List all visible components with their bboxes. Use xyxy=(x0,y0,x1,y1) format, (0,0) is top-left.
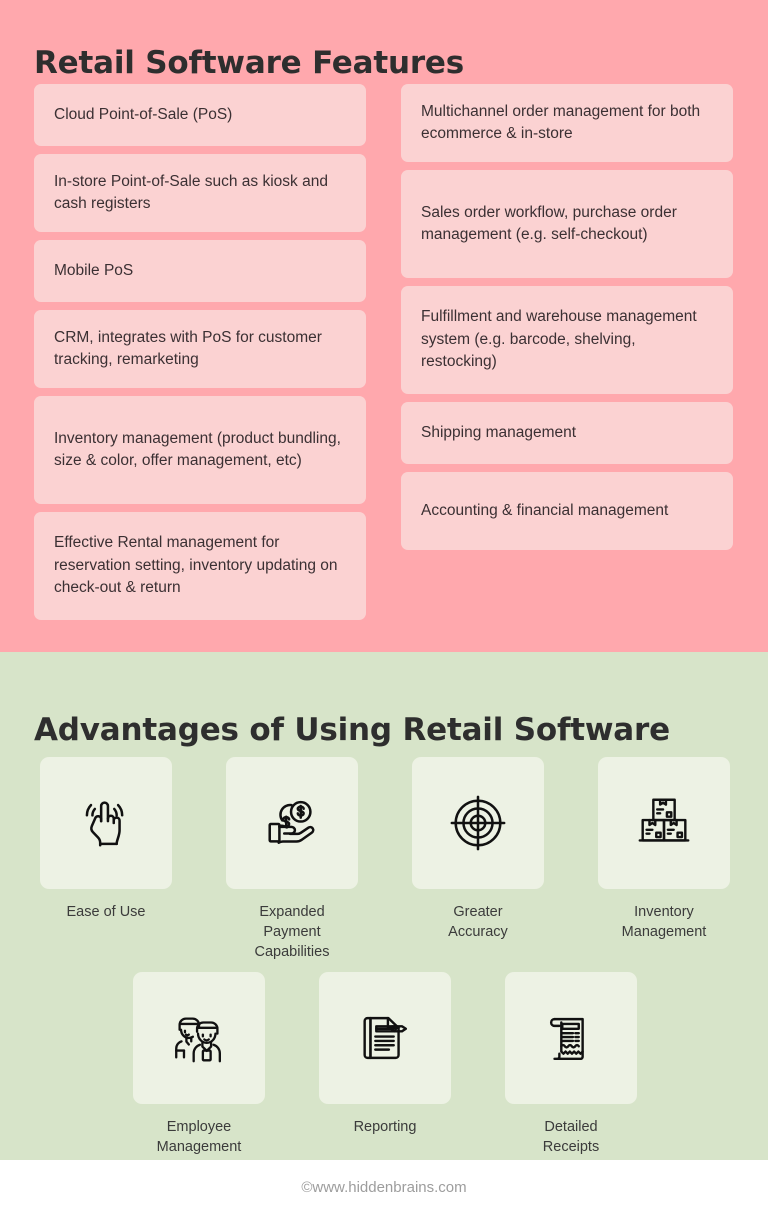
icon-tile xyxy=(133,972,265,1104)
icon-tile xyxy=(226,757,358,889)
advantages-row-2: Employee Management xyxy=(133,972,637,1157)
features-section-title: Retail Software Features xyxy=(34,45,464,81)
footer: ©www.hiddenbrains.com xyxy=(0,1160,768,1215)
feature-card: Shipping management xyxy=(401,402,733,464)
features-right-column: Multichannel order management for both e… xyxy=(401,84,733,620)
hand-money-icon xyxy=(261,792,323,854)
features-card-columns: Cloud Point-of-Sale (PoS) In-store Point… xyxy=(34,84,734,620)
tap-hand-icon xyxy=(75,792,137,854)
feature-card-text: Accounting & financial management xyxy=(421,500,668,522)
advantage-item-expanded-payment-capabilities: Expanded Payment Capabilities xyxy=(226,757,358,962)
icon-tile xyxy=(40,757,172,889)
feature-card-text: Sales order workflow, purchase order man… xyxy=(421,202,713,247)
feature-card-text: Mobile PoS xyxy=(54,260,133,282)
advantage-label: Reporting xyxy=(354,1117,417,1137)
feature-card-text: Cloud Point-of-Sale (PoS) xyxy=(54,104,232,126)
two-employees-icon xyxy=(168,1007,230,1069)
advantage-item-detailed-receipts: Detailed Receipts xyxy=(505,972,637,1157)
icon-tile xyxy=(412,757,544,889)
feature-card: Effective Rental management for reservat… xyxy=(34,512,366,620)
retail-software-features-section: Retail Software Features Cloud Point-of-… xyxy=(0,0,768,652)
advantage-item-greater-accuracy: Greater Accuracy xyxy=(412,757,544,962)
feature-card: Mobile PoS xyxy=(34,240,366,302)
feature-card-text: Effective Rental management for reservat… xyxy=(54,532,346,599)
feature-card-text: Shipping management xyxy=(421,422,576,444)
advantage-item-reporting: Reporting xyxy=(319,972,451,1157)
feature-card-text: Multichannel order management for both e… xyxy=(421,101,713,146)
feature-card: Multichannel order management for both e… xyxy=(401,84,733,162)
icon-tile xyxy=(319,972,451,1104)
footer-credit: ©www.hiddenbrains.com xyxy=(301,1179,466,1196)
feature-card: Fulfillment and warehouse management sys… xyxy=(401,286,733,394)
feature-card-text: In-store Point-of-Sale such as kiosk and… xyxy=(54,171,346,216)
advantage-item-ease-of-use: Ease of Use xyxy=(40,757,172,962)
feature-card: Accounting & financial management xyxy=(401,472,733,550)
advantage-label: Greater Accuracy xyxy=(448,902,508,942)
feature-card-text: CRM, integrates with PoS for customer tr… xyxy=(54,327,346,372)
stacked-boxes-icon xyxy=(633,792,695,854)
advantages-section-title: Advantages of Using Retail Software xyxy=(34,712,670,748)
advantage-item-employee-management: Employee Management xyxy=(133,972,265,1157)
infographic-page: Retail Software Features Cloud Point-of-… xyxy=(0,0,768,1215)
receipt-roll-icon xyxy=(540,1007,602,1069)
advantage-label: Ease of Use xyxy=(67,902,146,922)
advantage-label: Inventory Management xyxy=(622,902,707,942)
features-left-column: Cloud Point-of-Sale (PoS) In-store Point… xyxy=(34,84,366,620)
feature-card-text: Inventory management (product bundling, … xyxy=(54,428,346,473)
document-pencil-icon xyxy=(354,1007,416,1069)
feature-card: Cloud Point-of-Sale (PoS) xyxy=(34,84,366,146)
advantages-row-1: Ease of Use xyxy=(40,757,730,962)
advantage-label: Detailed Receipts xyxy=(543,1117,599,1157)
advantage-label: Expanded Payment Capabilities xyxy=(226,902,358,962)
advantages-section: Advantages of Using Retail Software xyxy=(0,652,768,1160)
icon-tile xyxy=(598,757,730,889)
icon-tile xyxy=(505,972,637,1104)
feature-card: CRM, integrates with PoS for customer tr… xyxy=(34,310,366,388)
advantage-item-inventory-management: Inventory Management xyxy=(598,757,730,962)
target-crosshair-icon xyxy=(447,792,509,854)
feature-card: In-store Point-of-Sale such as kiosk and… xyxy=(34,154,366,232)
feature-card: Sales order workflow, purchase order man… xyxy=(401,170,733,278)
feature-card: Inventory management (product bundling, … xyxy=(34,396,366,504)
feature-card-text: Fulfillment and warehouse management sys… xyxy=(421,306,713,373)
advantage-label: Employee Management xyxy=(157,1117,242,1157)
